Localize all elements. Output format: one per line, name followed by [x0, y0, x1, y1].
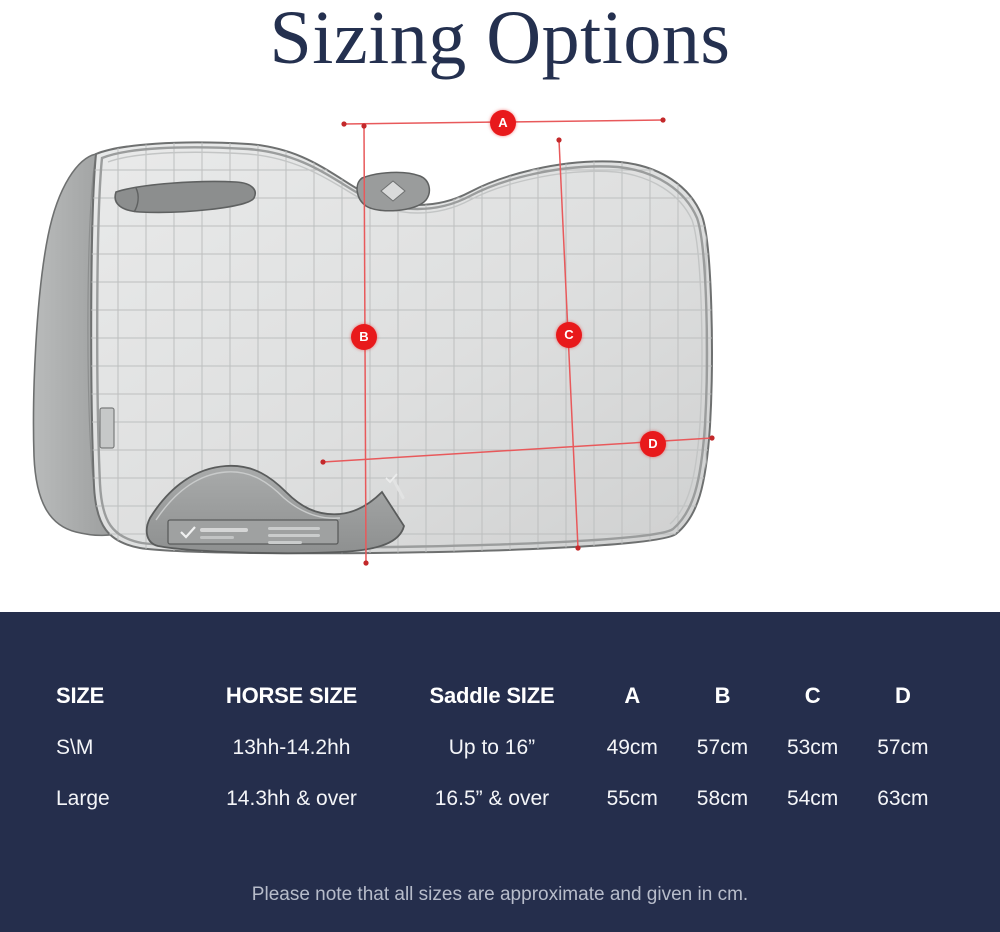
column-header-a: A: [587, 670, 677, 722]
table-header-row: SIZE HORSE SIZE Saddle SIZE A B C D: [56, 670, 948, 722]
cell-c: 54cm: [768, 773, 858, 824]
cell-saddle-size: 16.5” & over: [397, 773, 587, 824]
cell-horse-size: 14.3hh & over: [186, 773, 396, 824]
sizing-table: SIZE HORSE SIZE Saddle SIZE A B C D S\M …: [56, 670, 948, 824]
table-note: Please note that all sizes are approxima…: [0, 884, 1000, 906]
title-area: Sizing Options: [0, 0, 1000, 90]
column-header-b: B: [677, 670, 767, 722]
sizing-table-head: SIZE HORSE SIZE Saddle SIZE A B C D: [56, 670, 948, 722]
product-label-strip: [168, 520, 338, 544]
cell-c: 53cm: [768, 722, 858, 773]
cell-a: 55cm: [587, 773, 677, 824]
measurement-marker-a: A: [490, 110, 516, 136]
cell-a: 49cm: [587, 722, 677, 773]
cell-saddle-size: Up to 16”: [397, 722, 587, 773]
saddle-pad-illustration: [0, 96, 1000, 612]
measurement-marker-b: B: [351, 324, 377, 350]
cell-b: 58cm: [677, 773, 767, 824]
brand-logo-patch: [357, 172, 429, 210]
column-header-horse-size: HORSE SIZE: [186, 670, 396, 722]
measurement-marker-c: C: [556, 322, 582, 348]
cell-d: 63cm: [858, 773, 948, 824]
page-title: Sizing Options: [0, 0, 1000, 90]
column-header-saddle-size: Saddle SIZE: [397, 670, 587, 722]
cell-b: 57cm: [677, 722, 767, 773]
sizing-table-body: S\M 13hh-14.2hh Up to 16” 49cm 57cm 53cm…: [56, 722, 948, 824]
column-header-d: D: [858, 670, 948, 722]
column-header-size: SIZE: [56, 670, 186, 722]
sizing-options-page: Sizing Options: [0, 0, 1000, 932]
cell-size: Large: [56, 773, 186, 824]
table-row: S\M 13hh-14.2hh Up to 16” 49cm 57cm 53cm…: [56, 722, 948, 773]
table-row: Large 14.3hh & over 16.5” & over 55cm 58…: [56, 773, 948, 824]
sizing-table-band: SIZE HORSE SIZE Saddle SIZE A B C D S\M …: [0, 612, 1000, 932]
cell-size: S\M: [56, 722, 186, 773]
cell-d: 57cm: [858, 722, 948, 773]
column-header-c: C: [768, 670, 858, 722]
saddle-pad-diagram: A B C D: [0, 96, 1000, 612]
measurement-marker-d: D: [640, 431, 666, 457]
cell-horse-size: 13hh-14.2hh: [186, 722, 396, 773]
side-brand-tab: [100, 408, 114, 448]
